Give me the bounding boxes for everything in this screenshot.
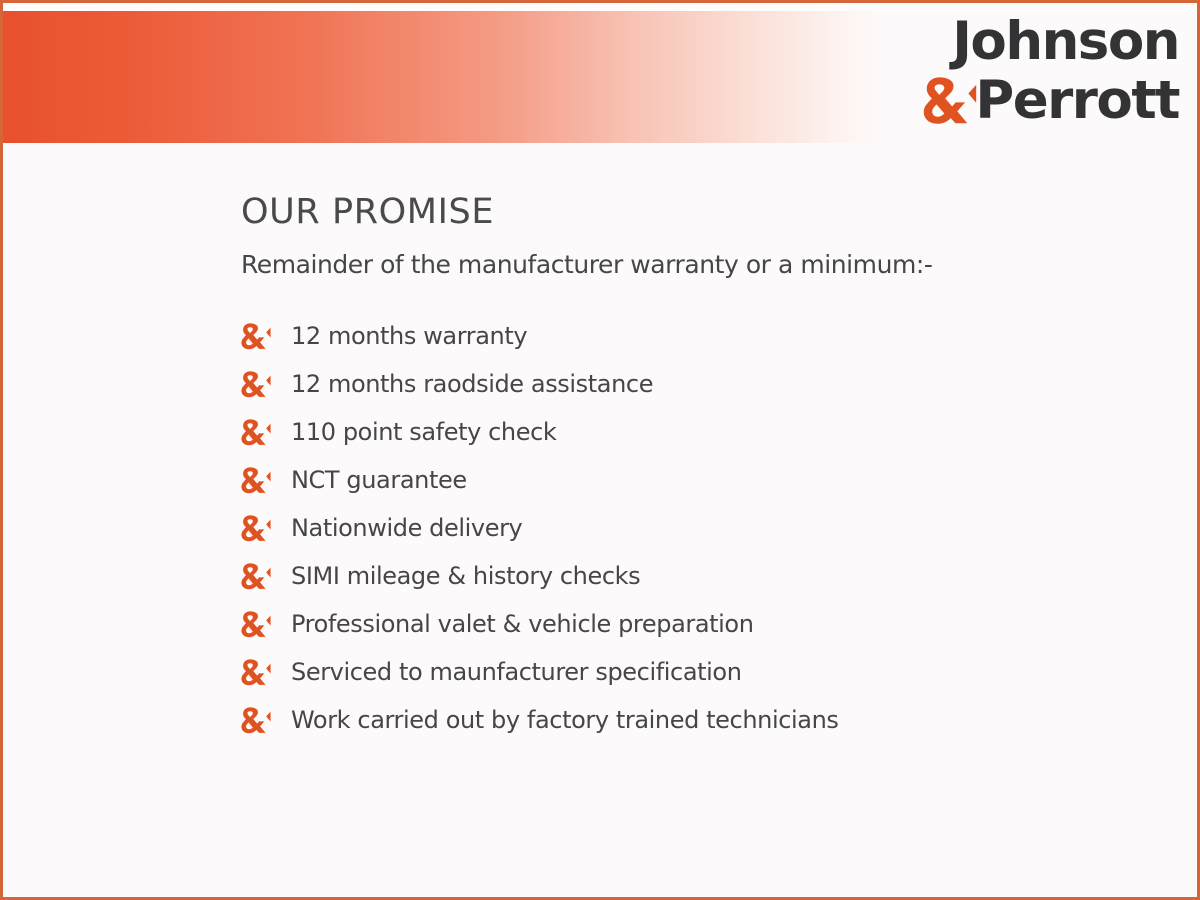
- header-gradient-band: [3, 11, 878, 143]
- list-item-label: Professional valet & vehicle preparation: [291, 611, 754, 637]
- list-item: NCT guarantee: [241, 456, 1141, 504]
- promise-subtitle: Remainder of the manufacturer warranty o…: [241, 251, 1141, 280]
- ampersand-bullet-icon: [241, 561, 271, 591]
- list-item: Professional valet & vehicle preparation: [241, 600, 1141, 648]
- list-item: SIMI mileage & history checks: [241, 552, 1141, 600]
- list-item: 12 months warranty: [241, 312, 1141, 360]
- ampersand-bullet-icon: [241, 417, 271, 447]
- promise-slide: Johnson Perrott OUR PROMISE Remainder of…: [0, 0, 1200, 900]
- promise-content: OUR PROMISE Remainder of the manufacture…: [241, 193, 1141, 744]
- logo-text-johnson: Johnson: [889, 17, 1179, 67]
- list-item-label: Nationwide delivery: [291, 515, 522, 541]
- johnson-perrott-logo: Johnson Perrott: [889, 13, 1179, 141]
- list-item-label: Serviced to maunfacturer specification: [291, 659, 742, 685]
- logo-text-perrott: Perrott: [975, 70, 1179, 131]
- ampersand-logo-icon: [923, 73, 977, 127]
- logo-line-perrott: Perrott: [889, 73, 1179, 127]
- list-item: 110 point safety check: [241, 408, 1141, 456]
- header-top-gap: [3, 3, 1197, 11]
- list-item-label: 12 months warranty: [291, 323, 527, 349]
- ampersand-bullet-icon: [241, 321, 271, 351]
- ampersand-bullet-icon: [241, 705, 271, 735]
- list-item-label: Work carried out by factory trained tech…: [291, 707, 839, 733]
- page-title: OUR PROMISE: [241, 193, 1141, 232]
- list-item: 12 months raodside assistance: [241, 360, 1141, 408]
- list-item: Work carried out by factory trained tech…: [241, 696, 1141, 744]
- ampersand-bullet-icon: [241, 369, 271, 399]
- page-header: Johnson Perrott: [3, 3, 1197, 143]
- list-item-label: SIMI mileage & history checks: [291, 563, 640, 589]
- list-item: Nationwide delivery: [241, 504, 1141, 552]
- list-item-label: NCT guarantee: [291, 467, 467, 493]
- promise-list: 12 months warranty 12 months raodside as…: [241, 312, 1141, 744]
- ampersand-bullet-icon: [241, 513, 271, 543]
- ampersand-bullet-icon: [241, 609, 271, 639]
- list-item-label: 110 point safety check: [291, 419, 556, 445]
- ampersand-bullet-icon: [241, 465, 271, 495]
- ampersand-bullet-icon: [241, 657, 271, 687]
- list-item: Serviced to maunfacturer specification: [241, 648, 1141, 696]
- list-item-label: 12 months raodside assistance: [291, 371, 653, 397]
